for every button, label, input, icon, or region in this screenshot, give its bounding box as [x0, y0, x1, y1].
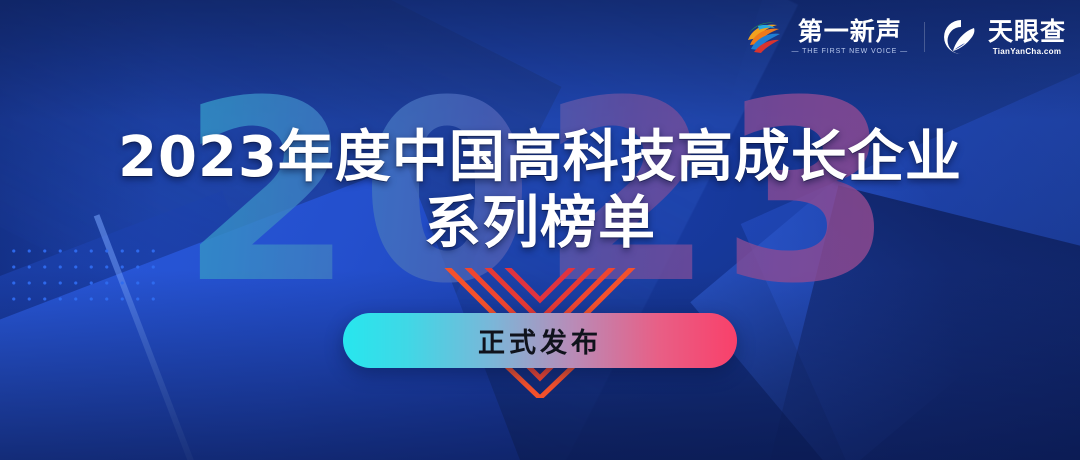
- title-line-2: 系列榜单: [0, 193, 1080, 253]
- logo-diyixinsheng-en: — THE FIRST NEW VOICE —: [791, 48, 908, 55]
- promo-banner: 2023 2023年度中国高科技高成长企业 系列榜单 正式发布: [0, 0, 1080, 460]
- aperture-eye-icon: [941, 17, 981, 57]
- logo-tianyancha-en: TianYanCha.com: [993, 48, 1062, 56]
- logo-divider: [924, 22, 925, 52]
- logo-diyixinsheng-cn: 第一新声: [798, 19, 902, 44]
- logo-tianyancha-cn: 天眼查: [988, 19, 1066, 44]
- release-status-pill[interactable]: 正式发布: [343, 313, 737, 368]
- logo-tianyancha[interactable]: 天眼查 TianYanCha.com: [941, 17, 1066, 57]
- release-status-label: 正式发布: [478, 321, 602, 360]
- logo-bar: 第一新声 — THE FIRST NEW VOICE — 天眼查 TianYan…: [744, 12, 1066, 62]
- banner-title: 2023年度中国高科技高成长企业 系列榜单: [0, 128, 1080, 254]
- ribbon-swirl-icon: [744, 17, 784, 57]
- title-line-1: 2023年度中国高科技高成长企业: [0, 128, 1080, 187]
- logo-diyixinsheng[interactable]: 第一新声 — THE FIRST NEW VOICE —: [744, 17, 908, 57]
